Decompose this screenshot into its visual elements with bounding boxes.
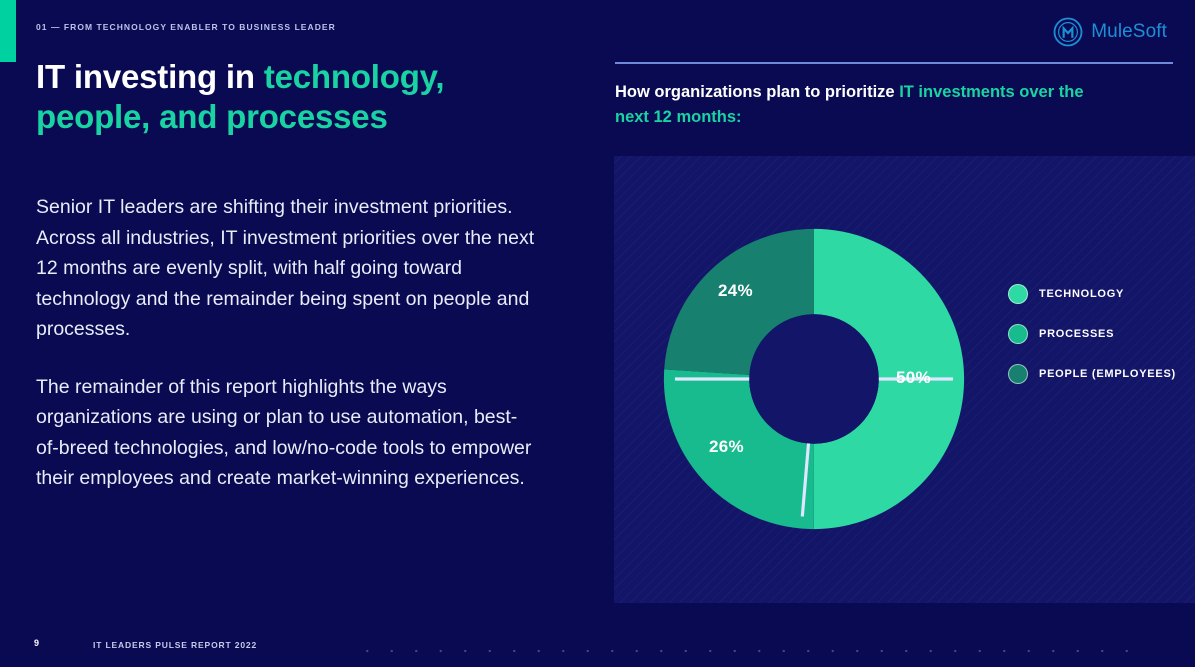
legend-item-technology[interactable]: TECHNOLOGY — [1008, 284, 1176, 304]
slide-root: 01 — FROM TECHNOLOGY ENABLER TO BUSINESS… — [0, 0, 1195, 667]
legend-dot-technology — [1008, 284, 1028, 304]
legend-label-people: PEOPLE (EMPLOYEES) — [1039, 368, 1176, 380]
headline-part-white: IT investing in — [36, 58, 264, 95]
donut-center-hole — [749, 314, 879, 444]
chart-panel: 50% 26% 24% TECHNOLOGY PROCESSES PEOPLE … — [614, 156, 1195, 603]
page-title: IT investing in technology, people, and … — [36, 57, 576, 137]
footer-page-number: 9 — [34, 638, 39, 648]
headline-part-green-2: people, and processes — [36, 98, 388, 135]
legend-label-processes: PROCESSES — [1039, 328, 1114, 340]
section-eyebrow: 01 — FROM TECHNOLOGY ENABLER TO BUSINESS… — [36, 22, 336, 32]
legend-dot-processes — [1008, 324, 1028, 344]
donut-chart: 50% 26% 24% — [656, 221, 972, 537]
footer-dot-grid-decoration — [355, 638, 1145, 664]
green-accent-bar — [0, 0, 16, 62]
chart-legend: TECHNOLOGY PROCESSES PEOPLE (EMPLOYEES) — [1008, 284, 1176, 384]
mulesoft-m-circle-icon — [1053, 17, 1083, 47]
heading-divider-rule — [615, 62, 1173, 64]
legend-item-people[interactable]: PEOPLE (EMPLOYEES) — [1008, 364, 1176, 384]
donut-chart-svg — [656, 221, 972, 537]
body-paragraph-1: Senior IT leaders are shifting their inv… — [36, 192, 536, 345]
legend-item-processes[interactable]: PROCESSES — [1008, 324, 1176, 344]
body-copy: Senior IT leaders are shifting their inv… — [36, 192, 536, 494]
body-paragraph-2: The remainder of this report highlights … — [36, 372, 536, 494]
footer-report-title: IT LEADERS PULSE REPORT 2022 — [93, 640, 257, 650]
chart-heading: How organizations plan to prioritize IT … — [615, 80, 1115, 130]
mulesoft-logo-text: MuleSoft — [1091, 21, 1167, 43]
headline-part-green-1: technology, — [264, 58, 445, 95]
legend-dot-people — [1008, 364, 1028, 384]
legend-label-technology: TECHNOLOGY — [1039, 288, 1124, 300]
mulesoft-logo: MuleSoft — [1053, 17, 1167, 47]
chart-heading-white: How organizations plan to prioritize — [615, 83, 899, 101]
